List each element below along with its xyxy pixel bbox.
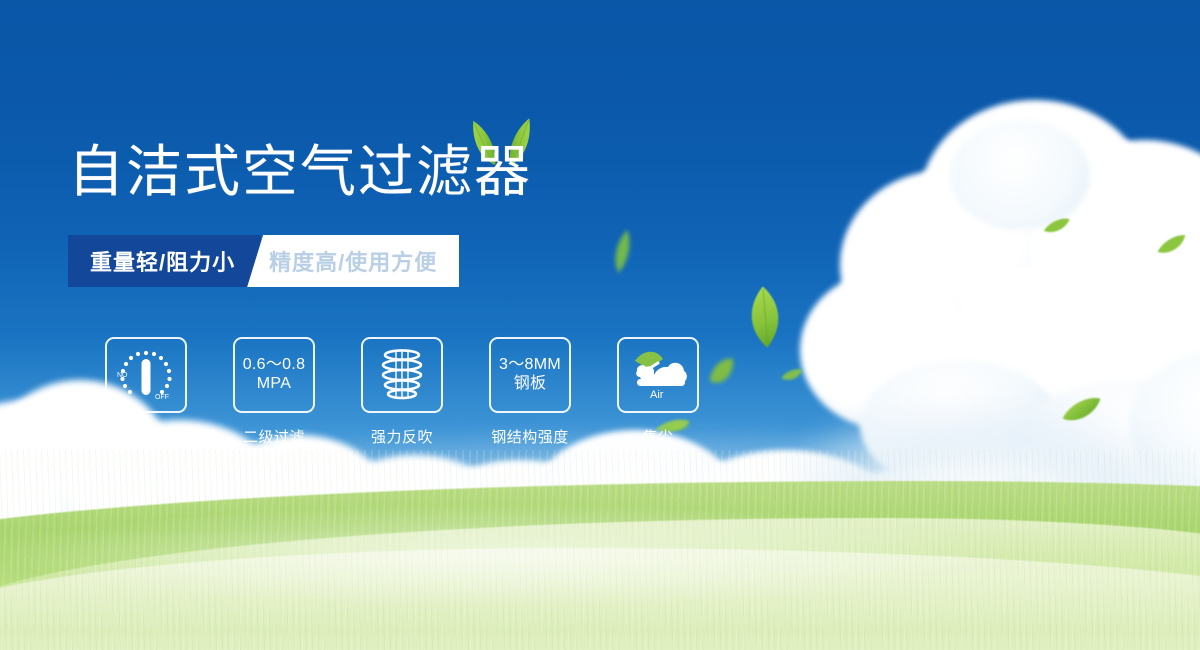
steel-line1: 3〜8MM xyxy=(499,356,561,373)
pressure-line2: MPA xyxy=(243,375,306,394)
svg-text:OFF: OFF xyxy=(155,394,169,401)
feature-item-control[interactable]: NO OFF 控制仪 xyxy=(82,337,210,447)
subtitle-left: 重量轻/阻力小 xyxy=(68,235,261,287)
feature-label-control: 控制仪 xyxy=(123,426,170,447)
dust-cloud-icon: Air xyxy=(617,337,699,413)
steel-plate-text-icon: 3〜8MM 钢板 xyxy=(489,337,571,413)
control-dial-icon: NO OFF xyxy=(105,337,187,413)
grass-highlight xyxy=(0,500,1200,610)
page-title: 自洁式空气过滤器 xyxy=(68,144,532,200)
subtitle-banner: 重量轻/阻力小 精度高/使用方便 xyxy=(68,235,459,287)
feature-item-blowback[interactable]: 强力反吹 xyxy=(338,337,466,447)
feature-label-steel: 钢结构强度 xyxy=(491,426,569,447)
svg-text:NO: NO xyxy=(117,372,128,379)
feature-label-blowback: 强力反吹 xyxy=(371,426,433,447)
feature-item-dust[interactable]: Air 集尘 xyxy=(594,337,722,447)
feature-label-dust: 集尘 xyxy=(642,426,673,447)
airblast-coil-icon xyxy=(361,337,443,413)
pressure-line1: 0.6〜0.8 xyxy=(243,356,306,373)
feature-item-pressure[interactable]: 0.6〜0.8 MPA 二级过滤 xyxy=(210,337,338,447)
hero-banner: 自洁式空气过滤器 重量轻/阻力小 精度高/使用方便 xyxy=(0,0,1200,650)
feature-list: NO OFF 控制仪 0.6〜0.8 MPA 二级过滤 xyxy=(82,337,722,447)
pressure-text-icon: 0.6〜0.8 MPA xyxy=(233,337,315,413)
grass-field xyxy=(0,450,1200,650)
dust-caption: Air xyxy=(650,389,664,401)
feature-item-steel[interactable]: 3〜8MM 钢板 钢结构强度 xyxy=(466,337,594,447)
feature-label-pressure: 二级过滤 xyxy=(243,426,305,447)
subtitle-right: 精度高/使用方便 xyxy=(247,235,459,287)
steel-line2: 钢板 xyxy=(499,375,561,394)
